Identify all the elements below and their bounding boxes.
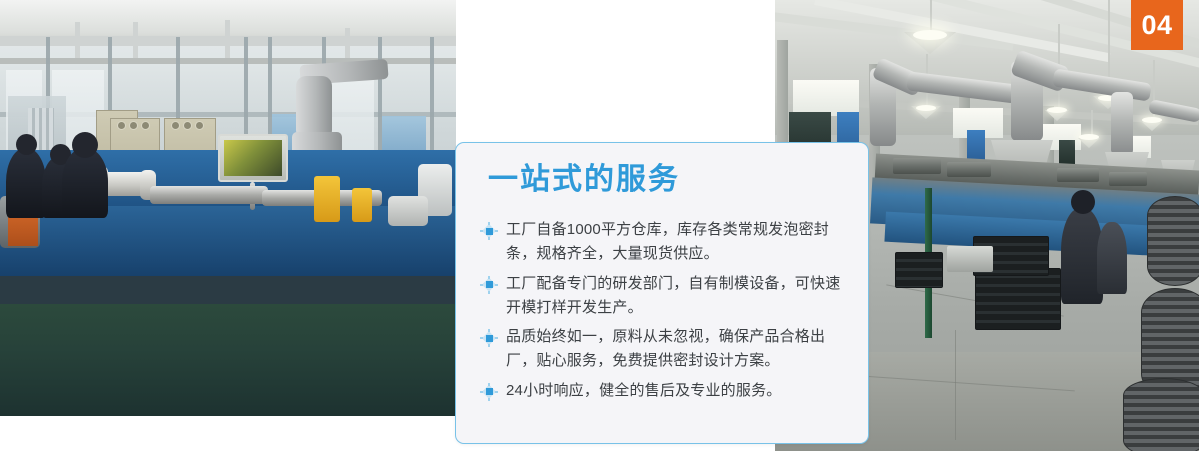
ceiling-lamp-icon — [911, 106, 941, 119]
list-item-text: 工厂配备专门的研发部门，自有制模设备，可快速开模打样开发生产。 — [506, 275, 840, 316]
worker-head — [16, 134, 37, 155]
line-module — [1057, 168, 1099, 182]
factory-extrusion-line-photo — [0, 0, 456, 416]
worker-head — [1071, 190, 1095, 214]
list-item: 品质始终如一，原料从未忽视，确保产品合格出厂，贴心服务，免费提供密封设计方案。 — [482, 325, 854, 374]
floor-seam — [955, 330, 956, 440]
line-module — [893, 158, 941, 174]
list-item: 工厂配备专门的研发部门，自有制模设备，可快速开模打样开发生产。 — [482, 272, 854, 321]
hall-window — [793, 80, 859, 116]
extruder-shaft — [150, 186, 268, 204]
safety-guard — [314, 176, 340, 222]
worker-head — [72, 132, 98, 158]
service-info-card: 一站式的服务 工厂自备1000平方仓库，库存各类常规发泡密封条，规格齐全，大量现… — [455, 142, 869, 444]
hall-door — [967, 130, 985, 162]
beam-bracket — [75, 22, 80, 58]
list-item-text: 工厂自备1000平方仓库，库存各类常规发泡密封条，规格齐全，大量现货供应。 — [506, 221, 829, 262]
metal-coil — [1123, 378, 1199, 451]
ceiling-lamp-icon — [1142, 122, 1162, 131]
cabinet-knob — [172, 122, 179, 129]
line-module — [1109, 172, 1147, 186]
worker-silhouette — [1097, 222, 1127, 294]
beam-bracket — [225, 20, 230, 58]
step-number-badge: 04 — [1131, 0, 1183, 50]
machine-unit — [947, 246, 993, 272]
cabinet-knob — [142, 122, 149, 129]
service-bullet-list: 工厂自备1000平方仓库，库存各类常规发泡密封条，规格齐全，大量现货供应。 工厂… — [482, 218, 854, 408]
diamond-bullet-icon — [482, 385, 496, 399]
beam-bracket — [133, 22, 138, 58]
cabinet-knob — [118, 122, 125, 129]
safety-guard — [352, 188, 372, 222]
machine-part — [388, 196, 428, 226]
ceiling-lamp-icon — [904, 32, 956, 54]
ceiling-lamp-icon — [1078, 138, 1100, 148]
cabinet-knob — [196, 122, 203, 129]
diamond-bullet-icon — [482, 278, 496, 292]
worker-silhouette — [6, 148, 46, 218]
list-item: 24小时响应，健全的售后及专业的服务。 — [482, 379, 854, 403]
list-item-text: 24小时响应，健全的售后及专业的服务。 — [506, 382, 782, 399]
machine-display-panel — [218, 134, 288, 182]
ceiling-lamp-icon — [1045, 110, 1069, 121]
diamond-bullet-icon — [482, 331, 496, 345]
promo-banner: 04 一站式的服务 工厂自备1000平方仓库，库存各类常规发泡密封条，规格齐全，… — [0, 0, 1199, 451]
step-number-text: 04 — [1141, 12, 1172, 39]
exhaust-duct — [1111, 92, 1133, 156]
ceiling-beam — [0, 58, 456, 64]
lamp-wire — [930, 0, 932, 32]
cabinet-knob — [184, 122, 191, 129]
list-item-text: 品质始终如一，原料从未忽视，确保产品合格出厂，贴心服务，免费提供密封设计方案。 — [506, 328, 825, 369]
exhaust-duct — [296, 76, 332, 140]
workshop-floor — [0, 304, 456, 416]
list-item: 工厂自备1000平方仓库，库存各类常规发泡密封条，规格齐全，大量现货供应。 — [482, 218, 854, 267]
diamond-bullet-icon — [482, 224, 496, 238]
beam-bracket — [345, 28, 350, 58]
metal-coil — [1147, 196, 1199, 286]
storage-crate — [975, 268, 1061, 330]
hall-doorway — [1059, 140, 1075, 166]
line-module — [947, 162, 991, 177]
cabinet-knob — [130, 122, 137, 129]
card-title: 一站式的服务 — [488, 165, 680, 195]
storage-crate — [895, 252, 943, 288]
worker-silhouette — [62, 148, 108, 218]
